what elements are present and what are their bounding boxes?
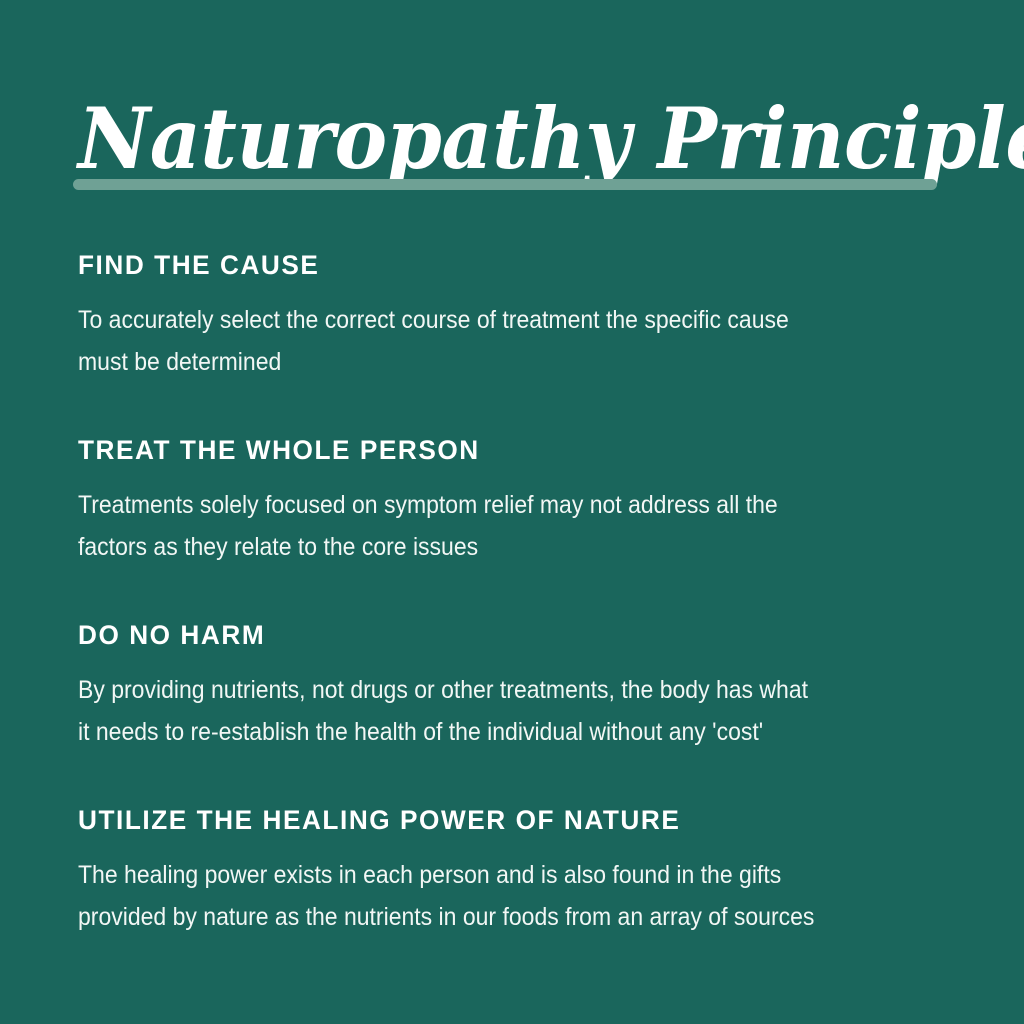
principle-body: Treatments solely focused on symptom rel… [78,484,888,568]
principle-section: DO NO HARM By providing nutrients, not d… [78,620,978,753]
principle-heading: FIND THE CAUSE [78,250,951,281]
principle-body: The healing power exists in each person … [78,854,888,938]
principle-body-line: The healing power exists in each person … [78,854,888,896]
principle-body-line: it needs to re-establish the health of t… [78,711,888,753]
principle-body-line: By providing nutrients, not drugs or oth… [78,669,888,711]
principle-body-line: Treatments solely focused on symptom rel… [78,484,888,526]
poster-canvas: Naturopathy Principles FIND THE CAUSE To… [0,0,1024,1024]
principle-body-line: factors as they relate to the core issue… [78,526,888,568]
principle-section: TREAT THE WHOLE PERSON Treatments solely… [78,435,978,568]
principle-body-line: provided by nature as the nutrients in o… [78,896,888,938]
principle-heading: DO NO HARM [78,620,951,651]
principle-section: FIND THE CAUSE To accurately select the … [78,250,978,383]
principle-body: To accurately select the correct course … [78,299,888,383]
title-divider [73,179,937,190]
principle-section: UTILIZE THE HEALING POWER OF NATURE The … [78,805,978,938]
principle-body-line: must be determined [78,341,888,383]
principle-heading: TREAT THE WHOLE PERSON [78,435,951,466]
principle-body-line: To accurately select the correct course … [78,299,888,341]
page-title: Naturopathy Principles [78,94,905,185]
principles-list: FIND THE CAUSE To accurately select the … [78,250,978,938]
principle-body: By providing nutrients, not drugs or oth… [78,669,888,753]
principle-heading: UTILIZE THE HEALING POWER OF NATURE [78,805,951,836]
